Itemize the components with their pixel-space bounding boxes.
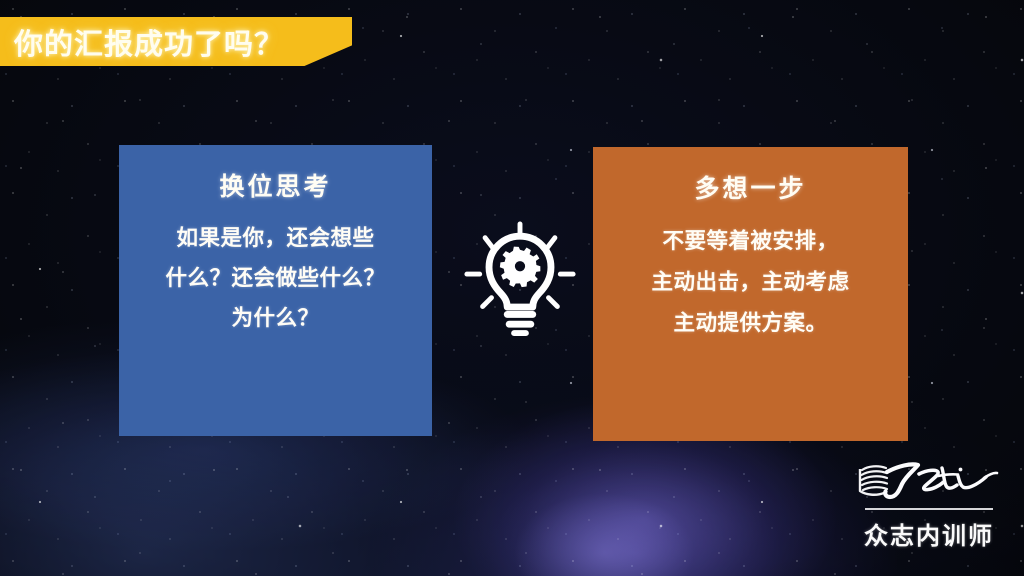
logo-divider (865, 508, 993, 510)
concept-card-left: 换位思考 如果是你，还会想些 什么？还会做些什么？ 为什么？ (119, 145, 432, 436)
concept-card-right: 多想一步 不要等着被安排， 主动出击，主动考虑 主动提供方案。 (593, 147, 908, 441)
card-right-body-line: 主动出击，主动考虑 (651, 262, 849, 303)
brand-logo: 众志内训师 (856, 456, 1002, 552)
card-left-body: 如果是你，还会想些 什么？还会做些什么？ 为什么？ (165, 219, 385, 338)
card-left-body-line: 为什么？ (165, 299, 385, 339)
card-right-body-line: 不要等着被安排， (651, 221, 849, 262)
logo-script-mark-icon (856, 456, 1002, 506)
page-title: 你的汇报成功了吗？ (14, 21, 284, 63)
card-left-body-line: 什么？还会做些什么？ (165, 259, 385, 299)
title-banner: 你的汇报成功了吗？ (0, 17, 352, 66)
slide-canvas: 你的汇报成功了吗？ 换位思考 如果是你，还会想些 什么？还会做些什么？ 为什么？ (0, 0, 1024, 576)
card-right-body: 不要等着被安排， 主动出击，主动考虑 主动提供方案。 (651, 221, 849, 344)
card-left-title: 换位思考 (219, 167, 331, 203)
card-left-body-line: 如果是你，还会想些 (165, 219, 385, 259)
card-right-title: 多想一步 (694, 169, 806, 205)
card-right-body-line: 主动提供方案。 (651, 303, 849, 344)
logo-brand-name: 众志内训师 (864, 516, 994, 551)
lightbulb-gear-icon (461, 220, 579, 338)
